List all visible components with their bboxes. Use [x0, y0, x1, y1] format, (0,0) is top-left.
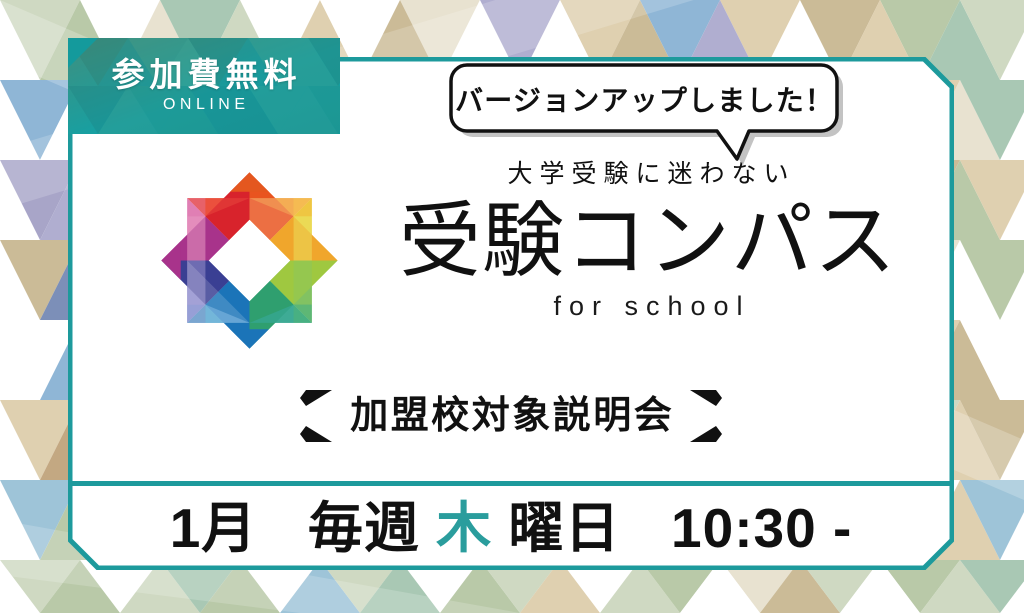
logo-text-block: 大学受験に迷わない 受験コンパス for school: [368, 161, 928, 322]
badge-text-group: 参加費無料 ONLINE: [68, 38, 340, 134]
version-up-bubble: バージョンアップしました！: [449, 63, 849, 168]
free-entry-badge: 参加費無料 ONLINE: [68, 38, 340, 134]
date-weekday-suffix: 曜日: [508, 497, 620, 559]
banner-root: 大学受験に迷わない 受験コンパス for school 加盟校対象説明会: [0, 0, 1024, 613]
date-frequency: 毎週: [308, 497, 420, 559]
bubble-label: バージョンアップしました！: [449, 63, 839, 135]
date-line: 1月 毎週 木 曜日 10:30 -: [170, 501, 853, 556]
badge-sub-label: ONLINE: [158, 96, 249, 114]
brand-wordmark: 受験コンパス: [388, 197, 908, 287]
bracket-right-icon: [688, 388, 724, 444]
date-month: 1月: [170, 497, 258, 559]
card-divider: [68, 481, 954, 486]
bracket-left-icon: [298, 388, 334, 444]
subtitle-label: 加盟校対象説明会: [348, 397, 675, 435]
svg-text:受験コンパス: 受験コンパス: [399, 197, 897, 287]
date-strip: 1月 毎週 木 曜日 10:30 -: [68, 486, 954, 570]
date-time: 10:30 -: [671, 497, 852, 559]
subtitle-block: 加盟校対象説明会: [68, 382, 954, 450]
compass-rosette-logo-icon: [142, 153, 357, 368]
logo-block: 大学受験に迷わない 受験コンパス for school: [68, 153, 954, 368]
date-weekday: 木: [436, 497, 492, 559]
logo-sub-brand: for school: [368, 291, 928, 322]
badge-main-label: 参加費無料: [107, 58, 302, 93]
